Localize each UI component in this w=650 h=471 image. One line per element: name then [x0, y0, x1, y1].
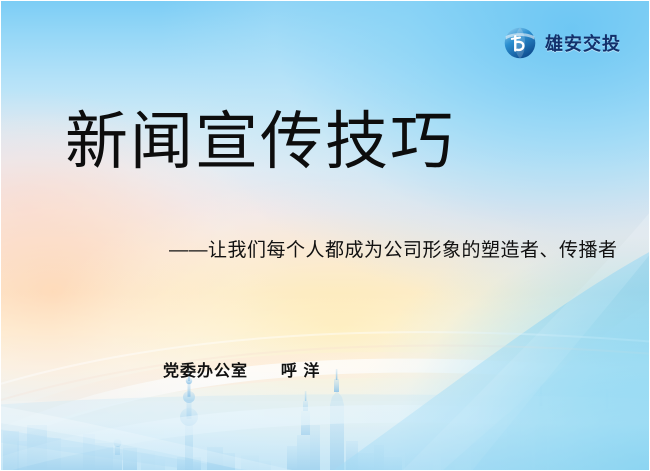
logo-wordmark: 雄安交投	[545, 30, 621, 56]
background-artwork	[1, 1, 650, 471]
title-slide: 雄安交投 新闻宣传技巧 ——让我们每个人都成为公司形象的塑造者、传播者 党委办公…	[0, 0, 650, 471]
presenter-department: 党委办公室	[163, 363, 248, 380]
page-title: 新闻宣传技巧	[65, 109, 455, 175]
slide-subtitle: ——让我们每个人都成为公司形象的塑造者、传播者	[169, 239, 618, 264]
presenter-line: 党委办公室 呼 洋	[163, 357, 320, 381]
presenter-name: 呼 洋	[281, 363, 320, 380]
company-logo[interactable]: 雄安交投	[503, 26, 621, 60]
xiongan-jiaotou-globe-logo-icon	[503, 26, 537, 60]
